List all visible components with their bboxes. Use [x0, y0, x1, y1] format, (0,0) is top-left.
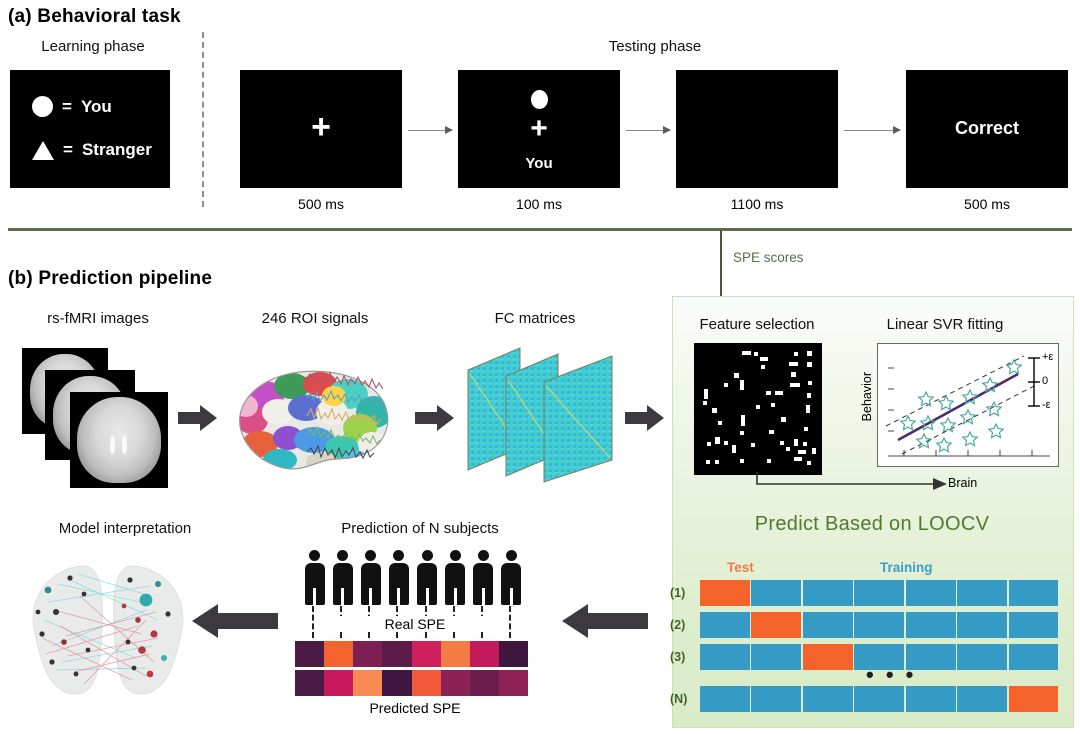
feature-selection-label: Feature selection	[684, 316, 830, 333]
panel-b-title: (b) Prediction pipeline	[8, 268, 212, 290]
arrow-blank-to-feedback	[844, 130, 900, 131]
connectome-icon	[18, 550, 198, 710]
person-icon	[500, 550, 522, 606]
cue-response-label: You	[458, 155, 620, 172]
svr-plot-svg	[878, 344, 1058, 466]
arrow-roi-to-fc	[415, 405, 453, 431]
loocv-training-cell[interactable]	[906, 612, 956, 638]
person-icon	[387, 550, 409, 606]
person-icon	[444, 550, 466, 606]
loocv-row-label: (1)	[670, 586, 685, 600]
loocv-training-cell[interactable]	[957, 644, 1007, 670]
person-icon	[331, 550, 353, 606]
learning-screen: = You = Stranger	[10, 70, 170, 188]
real-spe-cell	[499, 641, 528, 667]
roi-timeseries-icon	[305, 370, 403, 462]
person-icon	[359, 550, 381, 606]
person-icon	[303, 550, 325, 606]
loocv-ellipsis: • • •	[866, 662, 916, 688]
person-connector	[312, 606, 314, 638]
loocv-training-cell[interactable]	[1009, 644, 1059, 670]
cue-screen: + You	[458, 70, 620, 188]
loocv-training-cell[interactable]	[957, 580, 1007, 606]
blank-screen	[676, 70, 838, 188]
real-spe-cell	[295, 641, 324, 667]
real-spe-label: Real SPE	[335, 616, 495, 632]
real-spe-cell	[324, 641, 353, 667]
loocv-row-label: (N)	[670, 692, 687, 706]
predicted-spe-cell	[324, 670, 353, 696]
fc-matrices-icon	[462, 340, 632, 490]
arrow-cue-to-blank	[626, 130, 670, 131]
feature-selection-matrix	[694, 343, 822, 475]
loocv-training-cell[interactable]	[854, 612, 904, 638]
testing-phase-label: Testing phase	[520, 38, 790, 55]
predicted-spe-cell	[353, 670, 382, 696]
step-label-rsfmri: rs-fMRI images	[8, 310, 188, 327]
legend-text-stranger: Stranger	[82, 140, 152, 160]
section-divider	[8, 228, 1072, 231]
cue-circle-icon	[531, 90, 548, 109]
legend-row-stranger: = Stranger	[32, 140, 152, 160]
predicted-spe-heatmap	[295, 670, 528, 696]
fixation-duration: 500 ms	[240, 196, 402, 212]
loocv-test-label: Test	[727, 560, 754, 575]
cue-duration: 100 ms	[458, 196, 620, 212]
phase-separator	[202, 32, 204, 207]
svr-margin-minus: -ε	[1042, 399, 1051, 411]
spe-scores-label: SPE scores	[733, 250, 804, 265]
svr-y-axis-label: Behavior	[860, 372, 874, 421]
real-spe-cell	[412, 641, 441, 667]
predicted-spe-cell	[295, 670, 324, 696]
loocv-training-cell[interactable]	[1009, 580, 1059, 606]
predicted-spe-cell	[499, 670, 528, 696]
person-icon	[472, 550, 494, 606]
loocv-title: Predict Based on LOOCV	[672, 513, 1072, 536]
loocv-training-cell[interactable]	[700, 686, 750, 712]
arrow-fixation-to-cue	[408, 130, 452, 131]
real-spe-cell	[470, 641, 499, 667]
step-label-fc: FC matrices	[455, 310, 615, 327]
legend-equals-you: =	[62, 97, 72, 117]
loocv-training-cell[interactable]	[854, 686, 904, 712]
predicted-spe-cell	[412, 670, 441, 696]
real-spe-cell	[353, 641, 382, 667]
loocv-training-label: Training	[880, 560, 933, 575]
predicted-spe-label: Predicted SPE	[330, 700, 500, 716]
predicted-spe-cell	[382, 670, 411, 696]
arrow-loocv-to-prediction	[562, 604, 648, 638]
feedback-text: Correct	[906, 118, 1068, 139]
legend-row-you: = You	[32, 96, 112, 117]
mri-slice-3	[70, 392, 168, 488]
svr-plot: +ε 0 -ε	[877, 343, 1059, 467]
loocv-training-cell[interactable]	[751, 644, 801, 670]
svr-label: Linear SVR fitting	[855, 316, 1035, 333]
predicted-spe-cell	[470, 670, 499, 696]
loocv-training-cell[interactable]	[700, 612, 750, 638]
loocv-test-cell[interactable]	[1009, 686, 1059, 712]
svr-margin-zero: 0	[1042, 375, 1048, 387]
loocv-training-cell[interactable]	[906, 686, 956, 712]
cue-fixation-cross: +	[458, 114, 620, 144]
person-icon	[416, 550, 438, 606]
loocv-training-cell[interactable]	[957, 686, 1007, 712]
person-connector	[509, 606, 511, 638]
loocv-training-cell[interactable]	[803, 612, 853, 638]
panel-a-title: (a) Behavioral task	[8, 6, 181, 28]
loocv-grid: (1)(2)(3)(N)	[700, 580, 1060, 712]
loocv-training-cell[interactable]	[803, 686, 853, 712]
fixation-cross: +	[240, 110, 402, 144]
step-label-roi: 246 ROI signals	[215, 310, 415, 327]
arrow-fc-to-model	[625, 405, 665, 431]
loocv-training-cell[interactable]	[751, 580, 801, 606]
feedback-duration: 500 ms	[906, 196, 1068, 212]
real-spe-heatmap	[295, 641, 528, 667]
loocv-training-cell[interactable]	[957, 612, 1007, 638]
legend-text-you: You	[81, 97, 112, 117]
arrow-features-to-brain	[755, 470, 985, 500]
loocv-row-label: (3)	[670, 650, 685, 664]
arrow-prediction-to-interpretation	[192, 604, 278, 638]
triangle-icon	[32, 141, 54, 160]
blank-duration: 1100 ms	[676, 196, 838, 212]
loocv-test-cell[interactable]	[751, 612, 801, 638]
real-spe-cell	[441, 641, 470, 667]
loocv-test-cell[interactable]	[803, 644, 853, 670]
svr-margin-plus: +ε	[1042, 351, 1053, 363]
arrow-mri-to-roi	[178, 405, 216, 431]
people-row	[300, 550, 525, 606]
circle-icon	[32, 96, 53, 117]
feedback-screen: Correct	[906, 70, 1068, 188]
predicted-spe-cell	[441, 670, 470, 696]
real-spe-cell	[382, 641, 411, 667]
prediction-label: Prediction of N subjects	[275, 520, 565, 537]
fixation-screen: +	[240, 70, 402, 188]
loocv-training-cell[interactable]	[906, 580, 956, 606]
loocv-training-cell[interactable]	[700, 644, 750, 670]
loocv-test-cell[interactable]	[700, 580, 750, 606]
loocv-training-cell[interactable]	[1009, 612, 1059, 638]
spe-arrow-line	[720, 230, 722, 298]
model-interpretation-label: Model interpretation	[10, 520, 240, 537]
loocv-training-cell[interactable]	[803, 580, 853, 606]
legend-equals-stranger: =	[63, 140, 73, 160]
loocv-row-label: (2)	[670, 618, 685, 632]
learning-phase-label: Learning phase	[18, 38, 168, 55]
loocv-training-cell[interactable]	[751, 686, 801, 712]
loocv-training-cell[interactable]	[854, 580, 904, 606]
